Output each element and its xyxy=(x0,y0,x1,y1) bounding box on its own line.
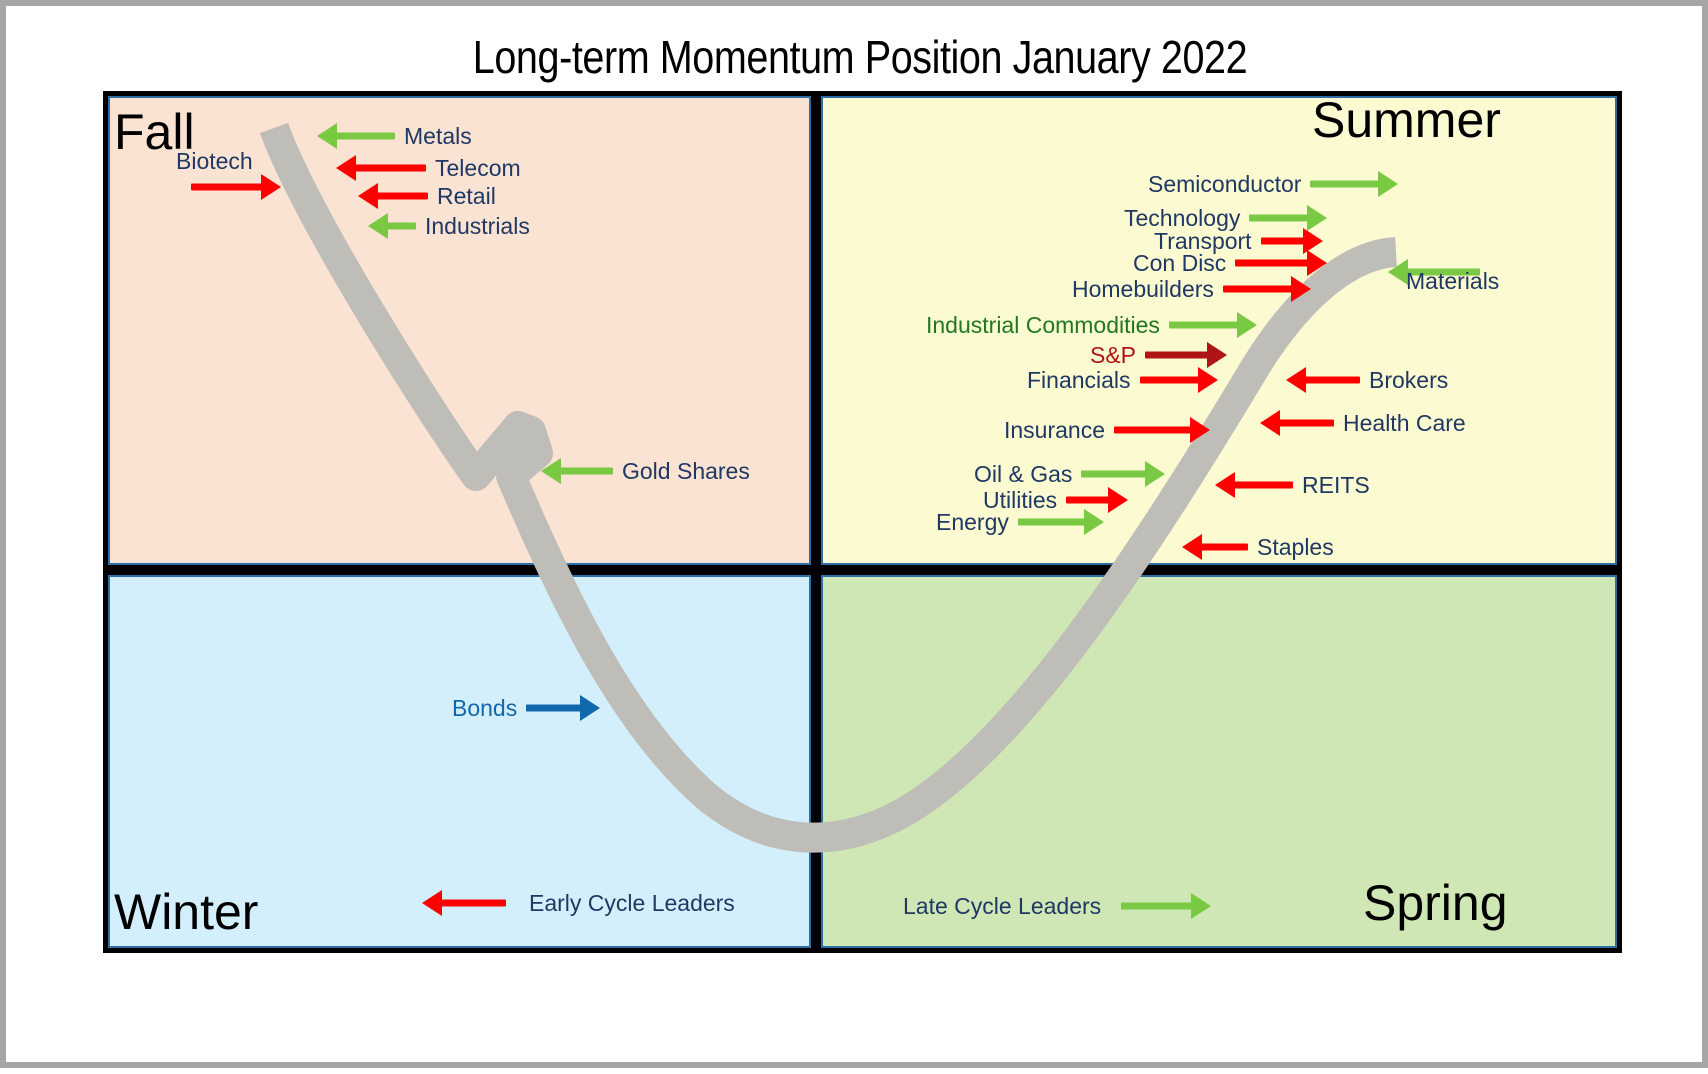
annotation-bonds[interactable]: Bonds xyxy=(452,695,600,721)
annotation-materials-label[interactable]: Materials xyxy=(1406,270,1499,293)
annotation-early-cycle-leaders[interactable]: Early Cycle Leaders xyxy=(422,890,735,916)
annotation-staples[interactable]: Staples xyxy=(1182,534,1334,560)
annotation-telecom[interactable]: Telecom xyxy=(336,155,521,181)
annotation-late-cycle-leaders[interactable]: Late Cycle Leaders xyxy=(903,893,1211,919)
annotation-sp[interactable]: S&P xyxy=(1090,342,1227,368)
quadrant-label-summer: Summer xyxy=(1312,91,1501,149)
arrow-right-icon xyxy=(1018,509,1104,535)
annotation-label-technology: Technology xyxy=(1124,207,1240,230)
annotation-gold-shares[interactable]: Gold Shares xyxy=(541,458,750,484)
arrow-right-icon xyxy=(1223,276,1311,302)
annotation-retail[interactable]: Retail xyxy=(358,183,496,209)
arrow-right-icon xyxy=(1121,893,1211,919)
arrow-right-icon xyxy=(526,695,600,721)
annotation-semiconductor[interactable]: Semiconductor xyxy=(1148,171,1398,197)
arrow-right-icon xyxy=(1169,312,1257,338)
quadrant-label-fall: Fall xyxy=(114,103,195,161)
arrow-right-icon xyxy=(191,174,281,200)
annotation-label-early-cycle-leaders: Early Cycle Leaders xyxy=(529,892,735,915)
annotation-label-sp: S&P xyxy=(1090,344,1136,367)
arrow-left-icon xyxy=(368,213,416,239)
annotation-homebuilders[interactable]: Homebuilders xyxy=(1072,276,1311,302)
annotation-label-financials: Financials xyxy=(1027,369,1131,392)
arrow-left-icon xyxy=(317,123,395,149)
arrow-left-icon xyxy=(1260,410,1334,436)
annotation-label-telecom: Telecom xyxy=(435,157,521,180)
annotation-label-semiconductor: Semiconductor xyxy=(1148,173,1301,196)
annotation-label-energy: Energy xyxy=(936,511,1009,534)
quadrant-label-spring: Spring xyxy=(1363,874,1508,932)
annotation-label-health-care: Health Care xyxy=(1343,412,1466,435)
annotation-financials[interactable]: Financials xyxy=(1027,367,1218,393)
annotation-label-staples: Staples xyxy=(1257,536,1334,559)
annotation-health-care[interactable]: Health Care xyxy=(1260,410,1466,436)
arrow-right-icon xyxy=(1310,171,1398,197)
annotation-industrial-commodities[interactable]: Industrial Commodities xyxy=(926,312,1257,338)
annotation-label-late-cycle-leaders: Late Cycle Leaders xyxy=(903,895,1101,918)
arrow-left-icon xyxy=(1215,472,1293,498)
annotation-insurance[interactable]: Insurance xyxy=(1004,417,1210,443)
annotation-label-materials: Materials xyxy=(1406,270,1499,293)
annotation-label-brokers: Brokers xyxy=(1369,369,1448,392)
arrow-left-icon xyxy=(358,183,428,209)
annotation-label-homebuilders: Homebuilders xyxy=(1072,278,1214,301)
arrow-left-icon xyxy=(541,458,613,484)
annotation-reits[interactable]: REITS xyxy=(1215,472,1370,498)
annotation-label-insurance: Insurance xyxy=(1004,419,1105,442)
arrow-right-icon xyxy=(1140,367,1218,393)
annotation-label-bonds: Bonds xyxy=(452,697,517,720)
arrow-right-icon xyxy=(1081,461,1165,487)
annotation-energy[interactable]: Energy xyxy=(936,509,1104,535)
arrow-right-icon xyxy=(1114,417,1210,443)
quadrant-label-winter: Winter xyxy=(114,883,258,941)
arrow-biotech xyxy=(191,174,281,200)
annotation-label-reits: REITS xyxy=(1302,474,1370,497)
arrow-left-icon xyxy=(422,890,506,916)
arrow-left-icon xyxy=(336,155,426,181)
arrow-left-icon xyxy=(1286,367,1360,393)
annotation-brokers[interactable]: Brokers xyxy=(1286,367,1448,393)
arrow-right-icon xyxy=(1235,250,1327,276)
annotation-metals[interactable]: Metals xyxy=(317,123,472,149)
arrow-left-icon xyxy=(1182,534,1248,560)
annotation-oil-gas[interactable]: Oil & Gas xyxy=(974,461,1165,487)
annotation-con-disc[interactable]: Con Disc xyxy=(1133,250,1327,276)
annotation-label-oil-gas: Oil & Gas xyxy=(974,463,1072,486)
arrow-right-icon xyxy=(1145,342,1227,368)
annotation-label-con-disc: Con Disc xyxy=(1133,252,1226,275)
annotation-industrials[interactable]: Industrials xyxy=(368,213,530,239)
annotation-label-industrials: Industrials xyxy=(425,215,530,238)
annotation-label-industrial-commodities: Industrial Commodities xyxy=(926,314,1160,337)
figure-frame: Long-term Momentum Position January 2022… xyxy=(0,0,1708,1068)
annotation-label-gold-shares: Gold Shares xyxy=(622,460,750,483)
annotation-label-metals: Metals xyxy=(404,125,472,148)
annotation-label-retail: Retail xyxy=(437,185,496,208)
